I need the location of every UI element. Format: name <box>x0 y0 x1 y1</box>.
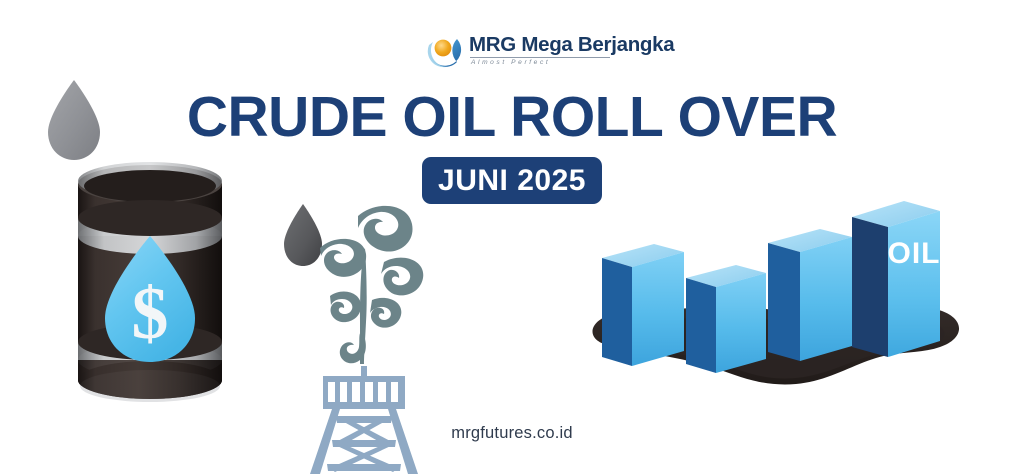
bar-4-oil: OIL <box>852 201 941 357</box>
bar-2 <box>686 265 766 373</box>
page-title: CRUDE OIL ROLL OVER <box>0 89 1024 146</box>
footer-website-url[interactable]: mrgfutures.co.id <box>0 424 1024 443</box>
bar-1 <box>602 244 684 366</box>
oil-spill-puddle-icon <box>593 305 960 385</box>
bar-3 <box>768 229 852 361</box>
bar-chart-3d: OIL <box>580 195 980 410</box>
brand-text-block: MRG Mega Berjangka Almost Perfect <box>469 34 674 67</box>
oil-droplet-icon <box>284 204 322 266</box>
date-badge-label: JUNI 2025 <box>438 166 586 196</box>
brand-tagline: Almost Perfect <box>471 60 674 67</box>
mrg-logo-icon <box>424 31 462 69</box>
bar-label-oil: OIL <box>888 237 941 270</box>
dollar-symbol: $ <box>132 273 169 355</box>
dollar-droplet-icon: $ <box>105 236 195 362</box>
oil-gusher-spray-icon <box>320 206 423 364</box>
brand-name: MRG Mega Berjangka <box>469 34 674 56</box>
promo-banner: $ <box>0 0 1024 474</box>
oil-derrick-tower-icon <box>310 366 418 474</box>
oil-bar-chart-illustration: OIL <box>580 195 980 415</box>
brand-logo[interactable]: MRG Mega Berjangka Almost Perfect <box>424 26 624 74</box>
oil-barrel-icon <box>78 162 222 402</box>
date-badge: JUNI 2025 <box>422 157 602 204</box>
